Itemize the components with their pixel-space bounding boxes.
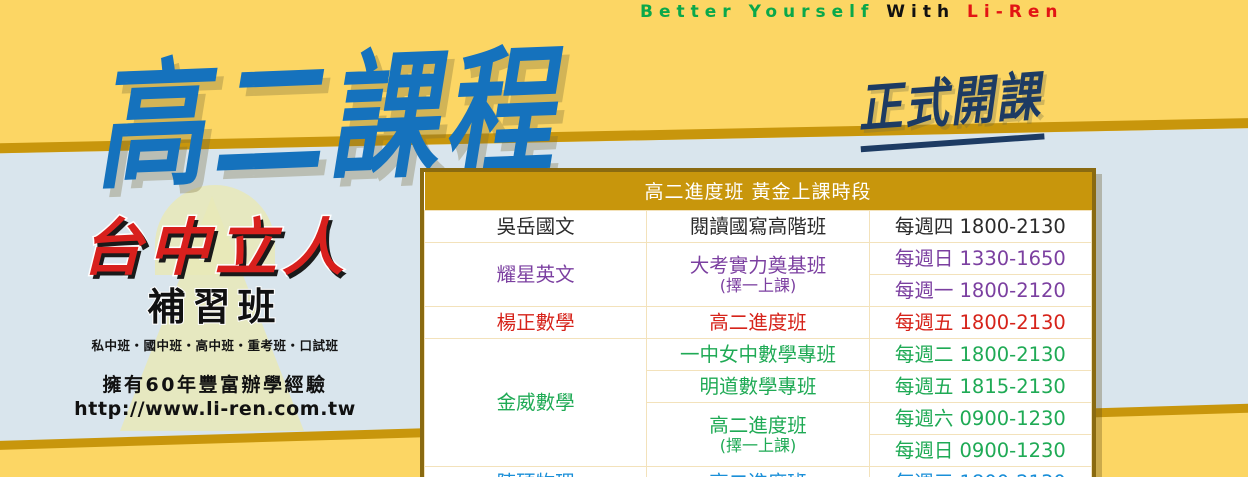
- cell-teacher: 吳岳國文: [425, 211, 647, 243]
- cell-class-name: 大考實力奠基班(擇一上課): [647, 243, 869, 307]
- cell-schedule-time: 每週三 1800-2130: [869, 467, 1091, 477]
- cell-class-name: 明道數學專班: [647, 371, 869, 403]
- cell-schedule-time: 每週日 1330-1650: [869, 243, 1091, 275]
- logo-type: 補習班: [40, 276, 390, 331]
- cell-class-name: 高二進度班: [647, 307, 869, 339]
- table-row: 吳岳國文閱讀國寫高階班每週四 1800-2130: [425, 211, 1092, 243]
- logo-name: 台中立人: [40, 215, 390, 280]
- cell-class-note: (擇一上課): [651, 437, 864, 456]
- tagline-word-yourself: Yourself: [749, 2, 875, 22]
- table-row: 金威數學一中女中數學專班每週二 1800-2130: [425, 339, 1092, 371]
- cell-teacher: 耀星英文: [425, 243, 647, 307]
- logo-tracks: 私中班・國中班・高中班・重考班・口試班: [40, 335, 390, 354]
- logo-website-url[interactable]: http://www.li-ren.com.tw: [40, 398, 390, 420]
- cell-class-name: 高二進度班: [647, 467, 869, 477]
- cell-class-name: 高二進度班(擇一上課): [647, 403, 869, 467]
- table-row: 耀星英文大考實力奠基班(擇一上課)每週日 1330-1650: [425, 243, 1092, 275]
- cell-teacher: 楊正數學: [425, 307, 647, 339]
- cell-schedule-time: 每週五 1815-2130: [869, 371, 1091, 403]
- logo-experience: 擁有60年豐富辦學經驗: [40, 370, 390, 397]
- cell-schedule-time: 每週五 1800-2130: [869, 307, 1091, 339]
- cell-class-name: 閱讀國寫高階班: [647, 211, 869, 243]
- schedule-table-body: 吳岳國文閱讀國寫高階班每週四 1800-2130耀星英文大考實力奠基班(擇一上課…: [425, 211, 1092, 477]
- table-header-row: 高二進度班 黃金上課時段: [425, 172, 1092, 211]
- tagline-word-liren: Li-Ren: [967, 2, 1063, 22]
- table-row: 楊正數學高二進度班每週五 1800-2130: [425, 307, 1092, 339]
- tagline-word-with: With: [886, 2, 955, 22]
- school-logo: 台中立人 補習班 私中班・國中班・高中班・重考班・口試班 擁有60年豐富辦學經驗…: [40, 215, 390, 420]
- cell-teacher: 金威數學: [425, 339, 647, 467]
- english-tagline: Better Yourself With Li-Ren: [640, 2, 1063, 22]
- cell-schedule-time: 每週六 0900-1230: [869, 403, 1091, 435]
- cell-schedule-time: 每週一 1800-2120: [869, 275, 1091, 307]
- cell-class-note: (擇一上課): [651, 277, 864, 296]
- cell-schedule-time: 每週四 1800-2130: [869, 211, 1091, 243]
- table-header-title: 高二進度班 黃金上課時段: [425, 172, 1092, 211]
- cell-schedule-time: 每週二 1800-2130: [869, 339, 1091, 371]
- page-subtitle: 正式開課: [855, 53, 1045, 152]
- table-row: 陳碩物理高二進度班每週三 1800-2130: [425, 467, 1092, 477]
- tagline-word-better: Better: [640, 2, 737, 22]
- cell-schedule-time: 每週日 0900-1230: [869, 435, 1091, 467]
- schedule-table-container: 高二進度班 黃金上課時段 吳岳國文閱讀國寫高階班每週四 1800-2130耀星英…: [420, 168, 1096, 477]
- cell-teacher: 陳碩物理: [425, 467, 647, 477]
- promo-banner: Better Yourself With Li-Ren 高二課程 正式開課 台中…: [0, 0, 1248, 477]
- cell-class-name: 一中女中數學專班: [647, 339, 869, 371]
- schedule-table: 高二進度班 黃金上課時段 吳岳國文閱讀國寫高階班每週四 1800-2130耀星英…: [424, 172, 1092, 477]
